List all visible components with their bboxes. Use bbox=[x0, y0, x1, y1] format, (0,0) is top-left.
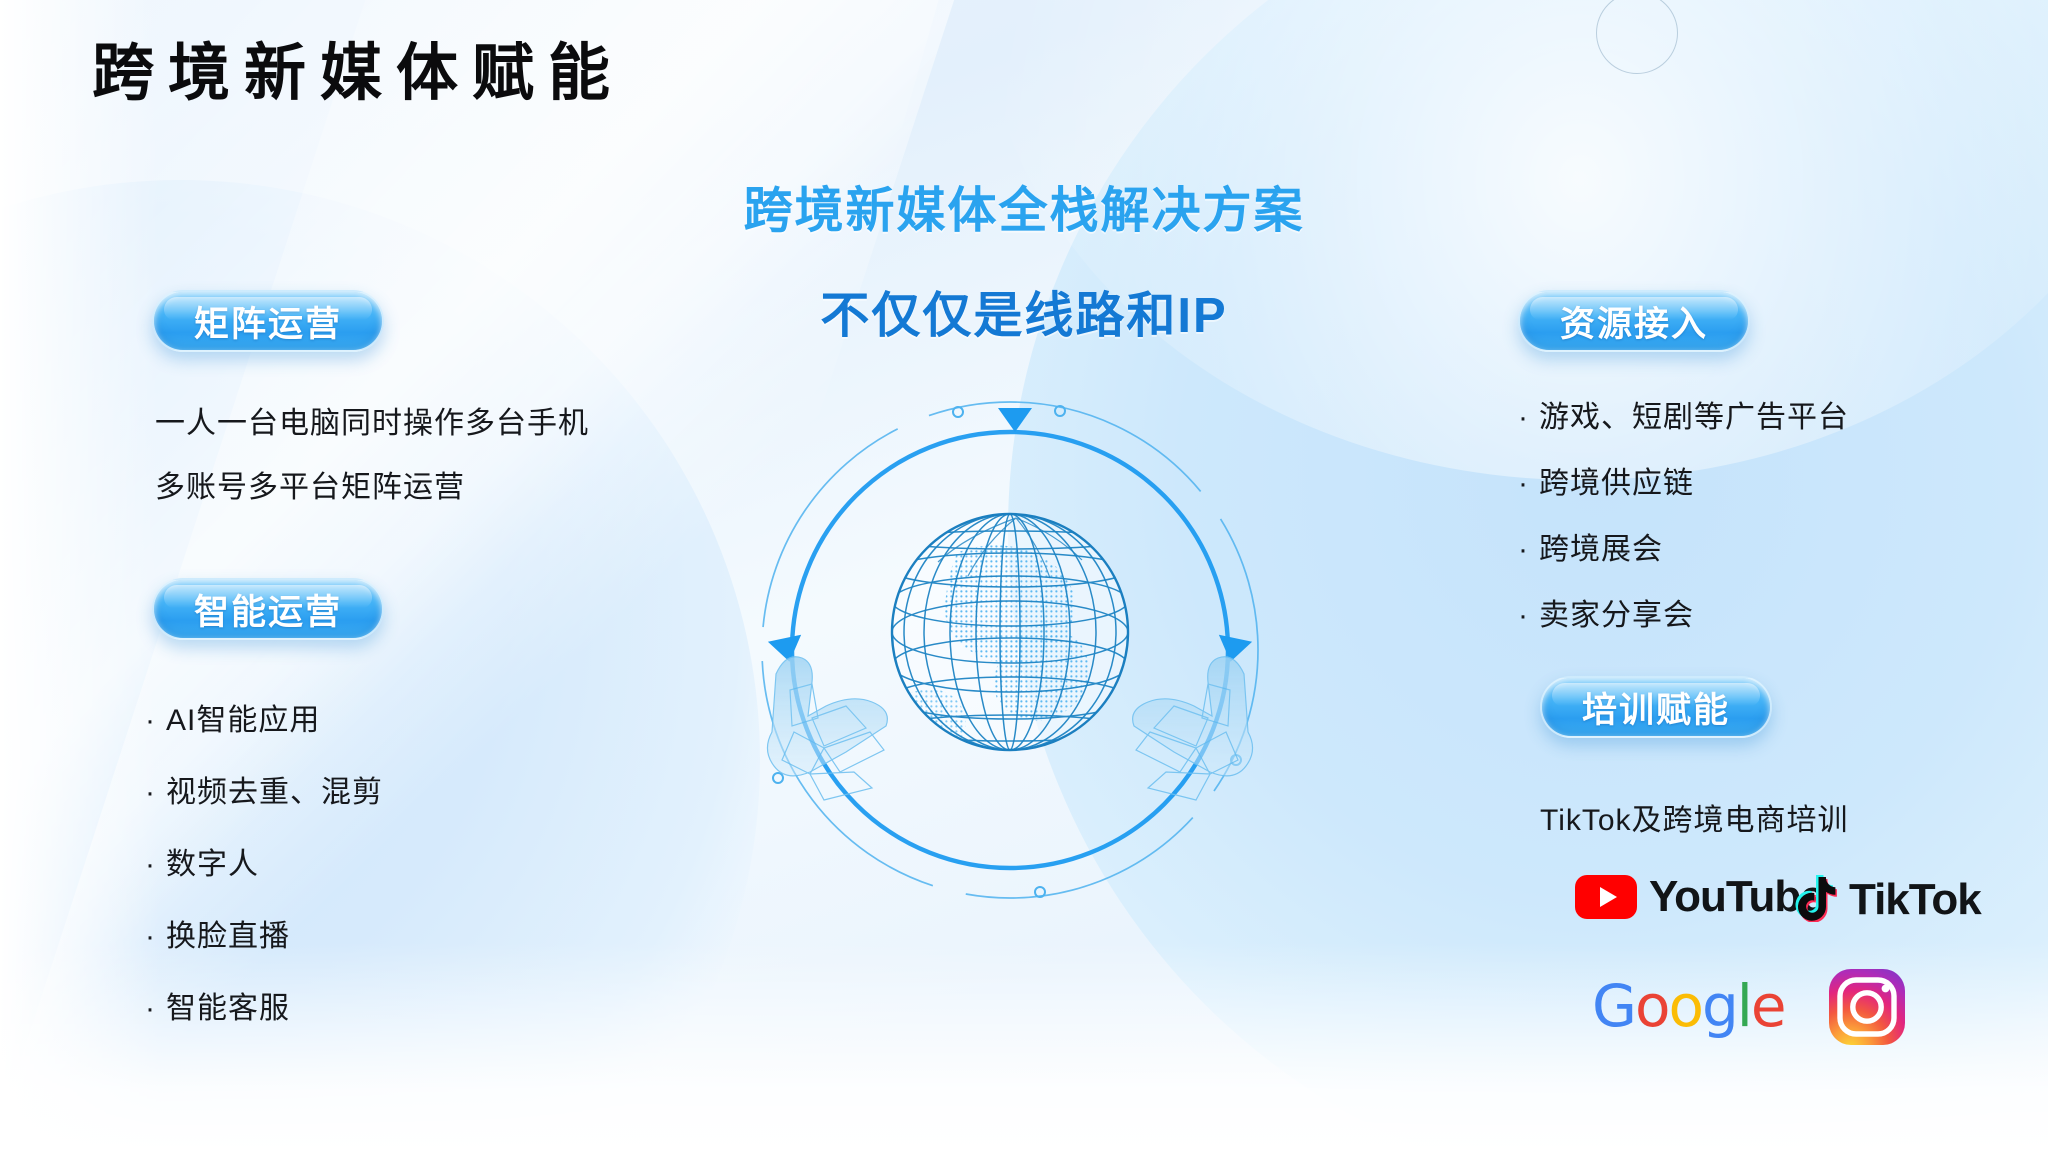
tiktok-note-icon bbox=[1795, 872, 1841, 927]
bullet-icon: · bbox=[1518, 599, 1529, 632]
pill-matrix-operations[interactable]: 矩阵运营 bbox=[152, 290, 384, 352]
left-list-item-2-label: 数字人 bbox=[166, 848, 259, 881]
right-training-text: TikTok及跨境电商培训 bbox=[1540, 795, 1849, 839]
right-list-item-3: ·卖家分享会 bbox=[1518, 590, 1694, 634]
bullet-icon: · bbox=[145, 776, 156, 809]
google-letter-2: o bbox=[1668, 972, 1702, 1040]
logo-instagram[interactable] bbox=[1828, 968, 1906, 1051]
right-list-item-3-label: 卖家分享会 bbox=[1539, 599, 1694, 632]
left-item-0-0: 一人一台电脑同时操作多台手机 bbox=[155, 398, 589, 442]
instagram-camera-icon bbox=[1828, 968, 1906, 1051]
logo-youtube[interactable]: YouTube bbox=[1575, 872, 1824, 922]
left-list-item-3: ·换脸直播 bbox=[145, 911, 290, 955]
right-list-item-0: ·游戏、短剧等广告平台 bbox=[1518, 392, 1849, 436]
right-list-item-2-label: 跨境展会 bbox=[1539, 533, 1663, 566]
right-list-item-2: ·跨境展会 bbox=[1518, 524, 1663, 568]
logo-tiktok[interactable]: TikTok bbox=[1795, 872, 1981, 927]
youtube-play-icon bbox=[1575, 875, 1637, 919]
pill-smart-operations[interactable]: 智能运营 bbox=[152, 578, 384, 640]
left-list-item-1: ·视频去重、混剪 bbox=[145, 767, 383, 811]
google-letter-3: g bbox=[1702, 972, 1737, 1040]
page-title: 跨境新媒体赋能 bbox=[92, 42, 624, 104]
headline-line-1: 跨境新媒体全栈解决方案 bbox=[0, 184, 2048, 239]
left-list-item-1-label: 视频去重、混剪 bbox=[166, 776, 383, 809]
bullet-icon: · bbox=[1518, 467, 1529, 500]
google-letter-4: l bbox=[1737, 972, 1751, 1040]
right-list-item-1-label: 跨境供应链 bbox=[1539, 467, 1694, 500]
right-list-item-0-label: 游戏、短剧等广告平台 bbox=[1539, 401, 1849, 434]
left-list-item-3-label: 换脸直播 bbox=[166, 920, 290, 953]
pill-training-empowerment[interactable]: 培训赋能 bbox=[1540, 676, 1772, 738]
left-list-item-0-label: AI智能应用 bbox=[166, 704, 320, 737]
logo-google[interactable]: G o o g l e bbox=[1592, 972, 1785, 1040]
bullet-icon: · bbox=[1518, 401, 1529, 434]
tiktok-label: TikTok bbox=[1849, 875, 1981, 925]
left-list-item-4: ·智能客服 bbox=[145, 983, 290, 1027]
bullet-icon: · bbox=[145, 920, 156, 953]
bullet-icon: · bbox=[145, 992, 156, 1025]
left-list-item-2: ·数字人 bbox=[145, 839, 259, 883]
google-letter-5: e bbox=[1751, 972, 1785, 1040]
google-letter-1: o bbox=[1635, 972, 1669, 1040]
globe-in-hands-illustration bbox=[730, 400, 1290, 920]
left-list-item-4-label: 智能客服 bbox=[166, 992, 290, 1025]
right-list-item-1: ·跨境供应链 bbox=[1518, 458, 1694, 502]
left-list-item-0: ·AI智能应用 bbox=[145, 695, 320, 739]
bullet-icon: · bbox=[1518, 533, 1529, 566]
slide-canvas: 跨境新媒体赋能 跨境新媒体全栈解决方案 不仅仅是线路和IP 矩阵运营 一人一台电… bbox=[0, 0, 2048, 1152]
bullet-icon: · bbox=[145, 848, 156, 881]
left-item-0-1: 多账号多平台矩阵运营 bbox=[155, 462, 465, 506]
google-letter-0: G bbox=[1592, 972, 1635, 1040]
pill-resource-access[interactable]: 资源接入 bbox=[1518, 290, 1750, 352]
bullet-icon: · bbox=[145, 704, 156, 737]
